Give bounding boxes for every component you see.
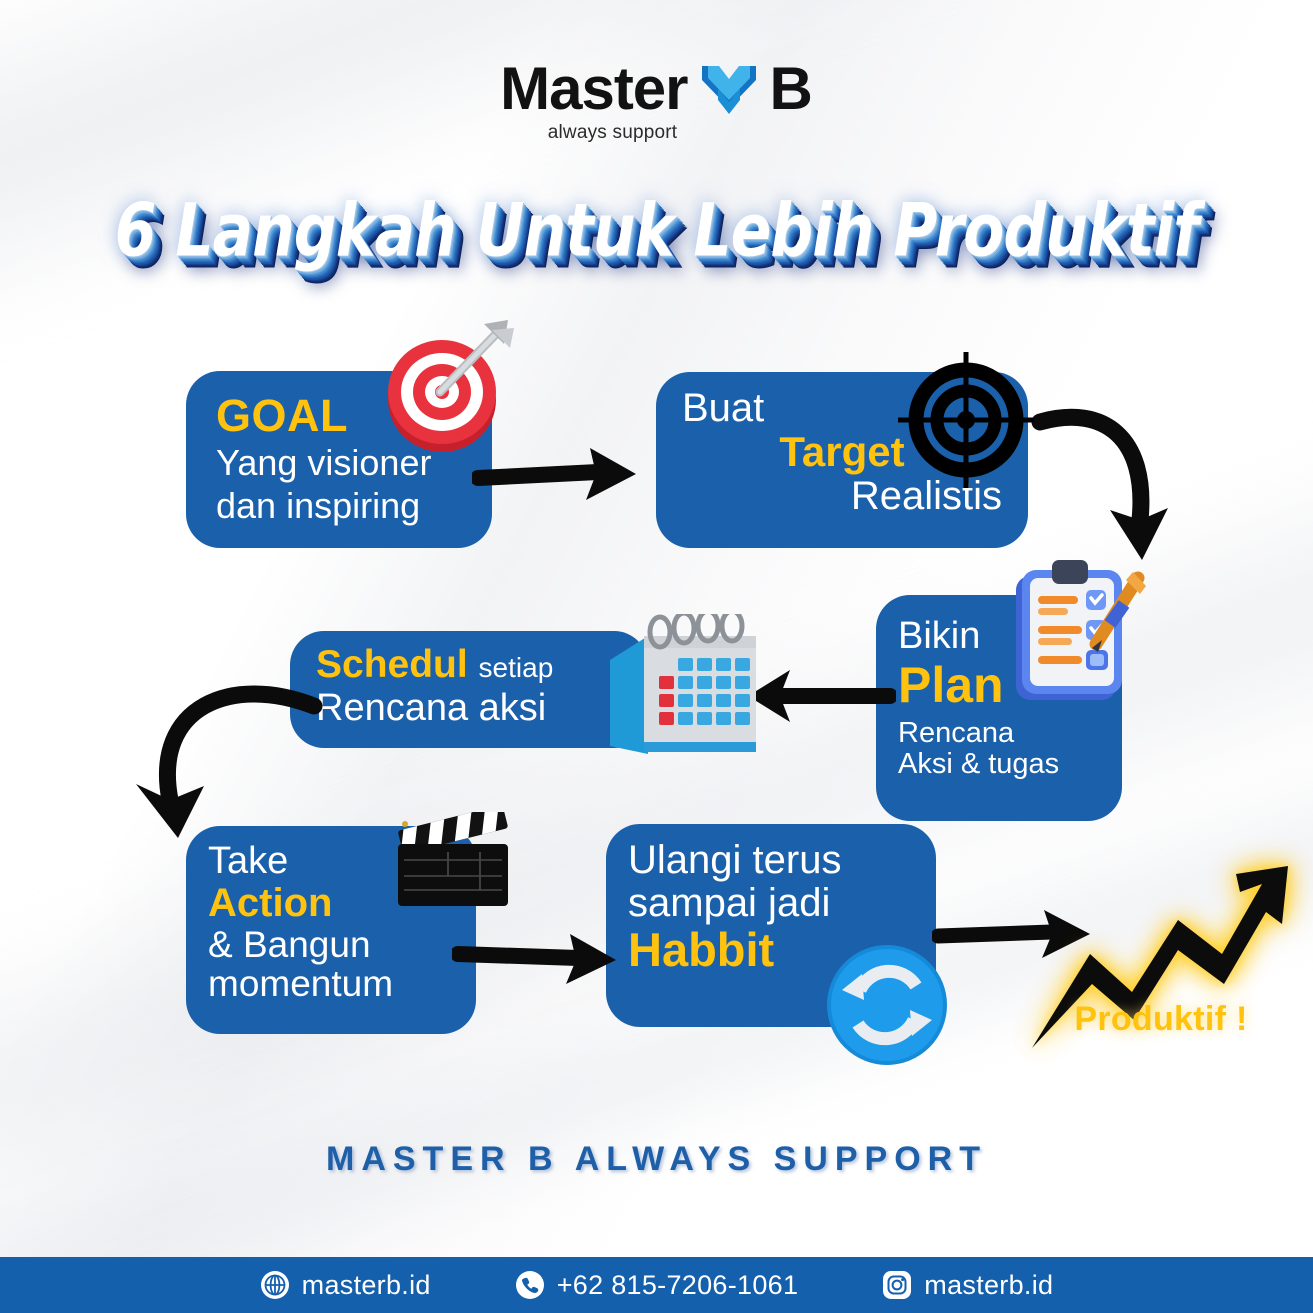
logo-row: Master B: [500, 58, 813, 120]
page-title: 6 Langkah Untuk Lebih Produktif: [0, 196, 1313, 266]
flow-arrow-habbit-to-produktif: [932, 900, 1094, 972]
footer-tagline-text: MASTER B ALWAYS SUPPORT: [326, 1140, 987, 1178]
step-action-line-2: Action: [208, 883, 476, 924]
step-plan-line-2: Plan: [898, 660, 1122, 711]
contact-website-label: masterb.id: [302, 1270, 431, 1301]
flow-arrow-action-to-habbit: [452, 920, 620, 996]
flow-arrow-goal-to-target: [472, 438, 640, 512]
step-schedule-line-1: Schedul setiap: [316, 645, 648, 685]
step-card-goal: GOAL Yang visioner dan inspiring: [186, 371, 492, 548]
step-habbit-line-3: Habbit: [628, 926, 936, 974]
step-schedule-keyword: Schedul: [316, 643, 468, 686]
instagram-icon: [882, 1270, 912, 1300]
step-card-schedule: Schedul setiap Rencana aksi: [290, 631, 648, 748]
step-target-line-1: Buat: [682, 388, 1002, 429]
flow-arrow-schedule-to-action: [128, 672, 328, 848]
step-plan-line-1: Bikin: [898, 617, 1122, 656]
step-plan-line-4: Aksi & tugas: [898, 750, 1122, 780]
step-plan-line-3: Rencana: [898, 719, 1122, 749]
step-goal-line-1: GOAL: [216, 393, 492, 439]
contact-instagram[interactable]: masterb.id: [882, 1270, 1053, 1301]
brand-logo: Master B always support: [0, 58, 1313, 144]
step-card-plan: Bikin Plan Rencana Aksi & tugas: [876, 595, 1122, 821]
step-schedule-suffix: setiap: [479, 652, 554, 683]
step-card-target: Buat Target Realistis: [656, 372, 1028, 548]
master-b-chevron-logo-icon: [698, 58, 760, 120]
globe-icon: [260, 1270, 290, 1300]
footer-tagline: MASTER B ALWAYS SUPPORT: [0, 1140, 1313, 1179]
contact-bar: masterb.id +62 815-7206-1061 masterb: [0, 1257, 1313, 1313]
outcome-label-text: Produktif !: [1074, 1000, 1247, 1038]
flow-arrow-plan-to-schedule: [746, 658, 896, 732]
infographic-poster: Master B always support 6 Langkah Untuk …: [0, 0, 1313, 1313]
flow-arrow-target-to-plan: [1030, 398, 1170, 570]
step-action-line-3: & Bangun: [208, 926, 476, 964]
logo-tagline: always support: [0, 122, 1269, 144]
logo-wordmark: Master: [500, 59, 687, 119]
step-goal-line-2: Yang visioner: [216, 445, 492, 482]
step-target-line-3: Realistis: [682, 476, 1002, 517]
contact-phone[interactable]: +62 815-7206-1061: [515, 1270, 799, 1301]
phone-icon: [515, 1270, 545, 1300]
contact-website[interactable]: masterb.id: [260, 1270, 431, 1301]
logo-letter-b: B: [770, 59, 813, 119]
step-goal-line-3: dan inspiring: [216, 488, 492, 525]
step-habbit-line-2: sampai jadi: [628, 883, 936, 924]
page-title-text: 6 Langkah Untuk Lebih Produktif: [115, 188, 1199, 273]
contact-phone-label: +62 815-7206-1061: [557, 1270, 799, 1301]
step-target-line-2: Target: [682, 431, 1002, 474]
step-action-line-4: momentum: [208, 965, 476, 1003]
step-habbit-line-1: Ulangi terus: [628, 840, 936, 881]
step-card-action: Take Action & Bangun momentum: [186, 826, 476, 1034]
step-card-habbit: Ulangi terus sampai jadi Habbit: [606, 824, 936, 1027]
contact-instagram-label: masterb.id: [924, 1270, 1053, 1301]
outcome-label: Produktif !: [1030, 1000, 1292, 1039]
step-schedule-line-2: Rencana aksi: [316, 689, 648, 728]
